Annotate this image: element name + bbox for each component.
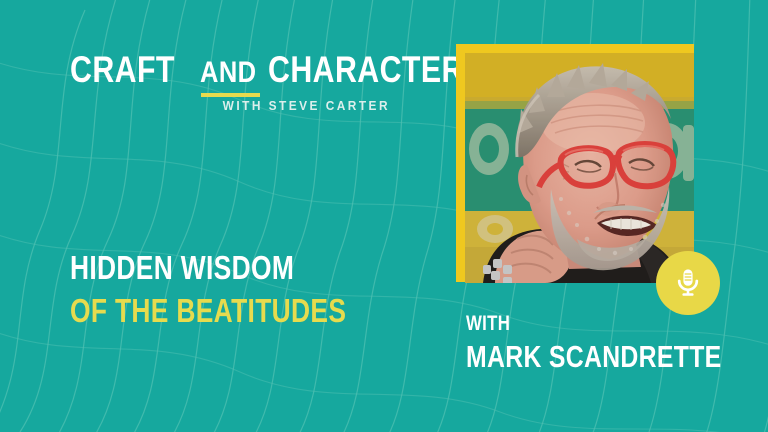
guest-credit: WITH MARK SCANDRETTE <box>466 313 768 374</box>
guest-name: MARK SCANDRETTE <box>466 340 722 373</box>
podcast-episode-card: CRAFT AND CHARACTER WITH STEVE CARTER HI… <box>0 0 768 432</box>
brand-word-and: AND <box>200 59 257 88</box>
episode-title-line-1: HIDDEN WISDOM <box>70 247 358 290</box>
brand-word-character: CHARACTER <box>268 52 464 87</box>
brand-and-group: AND <box>200 59 267 88</box>
and-underline <box>201 93 261 97</box>
microphone-icon <box>671 266 705 300</box>
host-byline: WITH STEVE CARTER <box>86 99 390 113</box>
guest-with-label: WITH <box>466 313 722 335</box>
episode-title: HIDDEN WISDOM OF THE BEATITUDES <box>70 247 430 333</box>
microphone-badge <box>656 251 720 315</box>
brand-lockup: CRAFT AND CHARACTER WITH STEVE CARTER <box>70 52 390 113</box>
guest-photo <box>465 53 694 283</box>
brand-word-craft: CRAFT <box>70 52 175 87</box>
episode-title-line-2: OF THE BEATITUDES <box>70 290 358 333</box>
brand-title-row: CRAFT AND CHARACTER <box>70 52 390 87</box>
